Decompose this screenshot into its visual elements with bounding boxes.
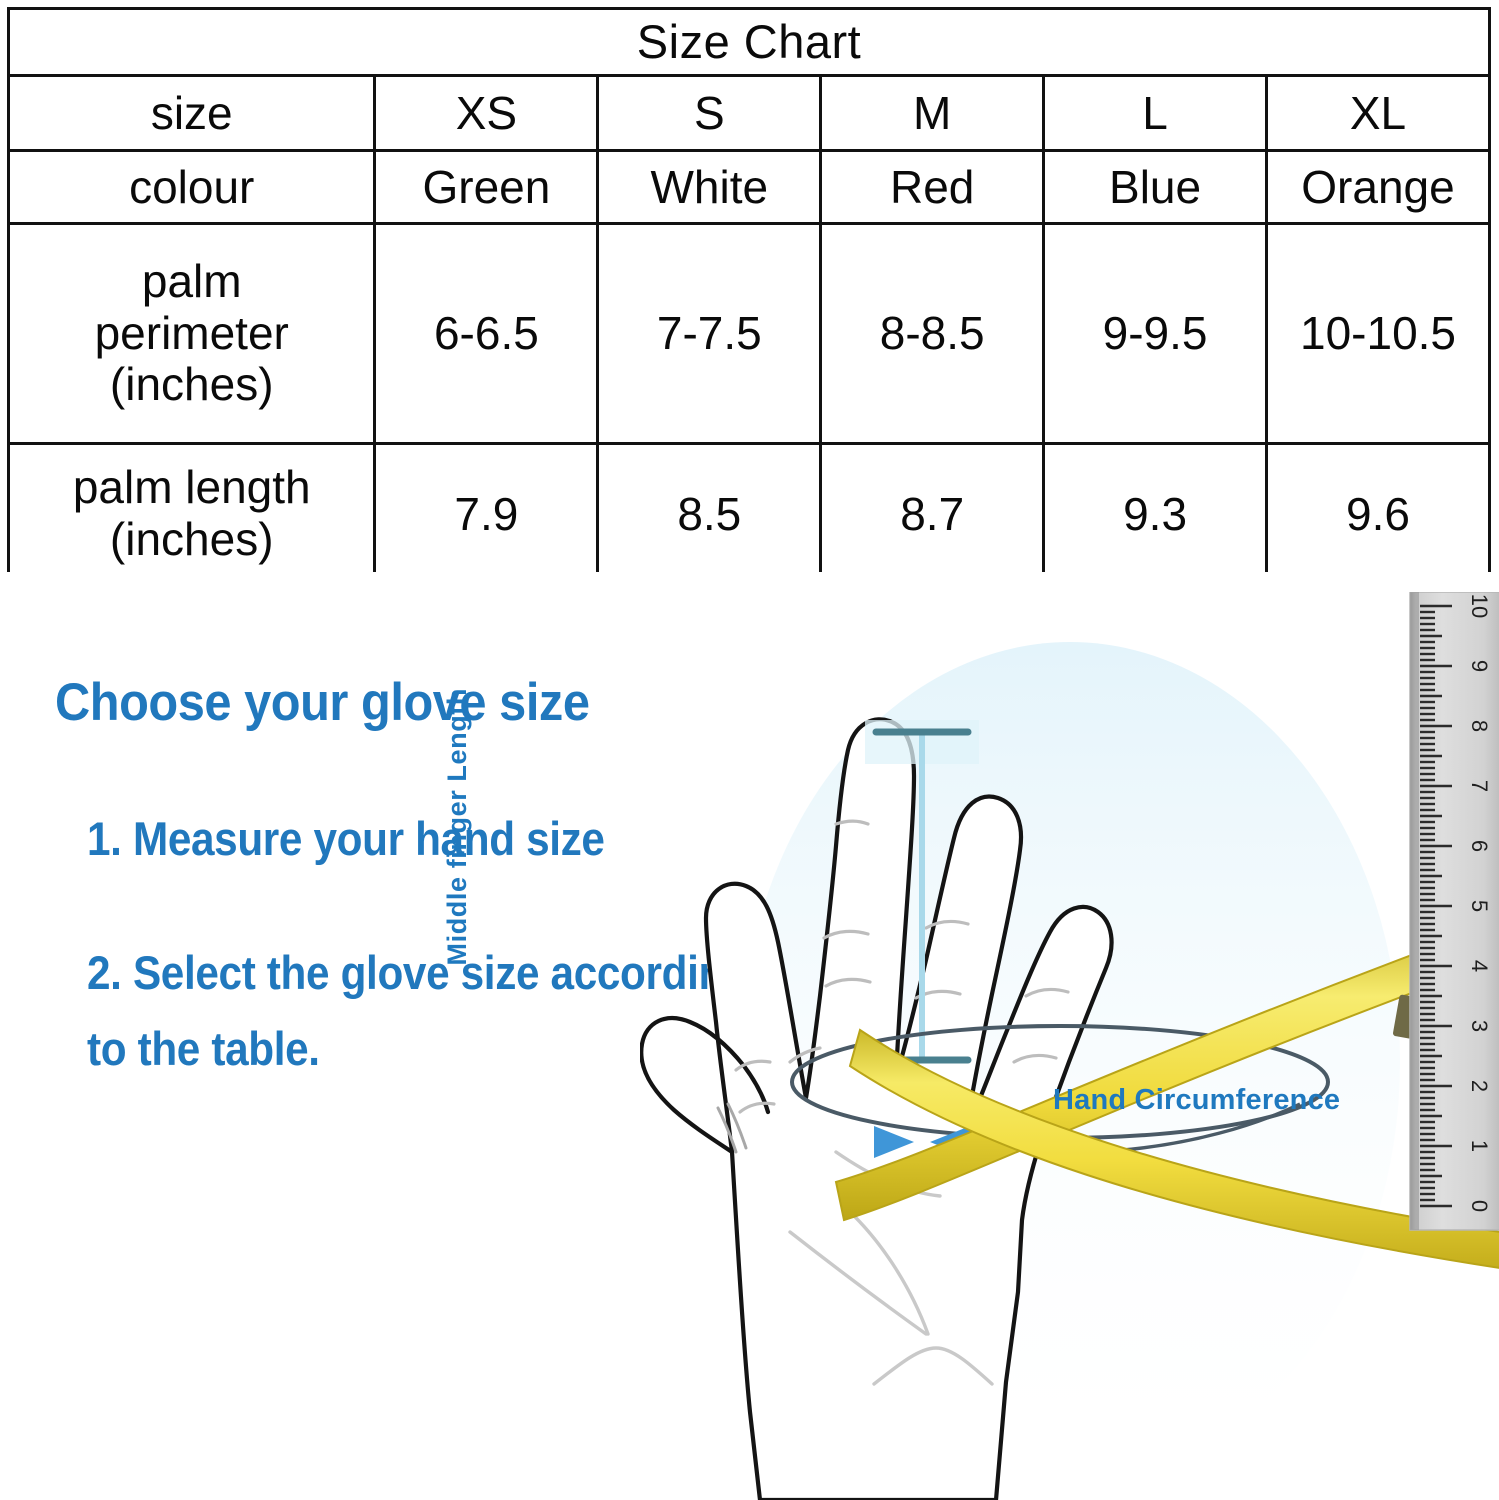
table-row-colour: colour Green White Red Blue Orange	[9, 151, 1490, 224]
svg-text:10: 10	[1467, 594, 1492, 618]
cell-colour-l: Blue	[1044, 151, 1267, 224]
svg-text:4: 4	[1467, 960, 1492, 972]
row-label-line-2: perimeter	[10, 308, 373, 360]
row-label-line-1: palm length	[10, 462, 373, 514]
svg-text:1: 1	[1467, 1140, 1492, 1152]
hand-circumference-label: Hand Circumference	[1053, 1084, 1340, 1117]
row-label-line-2: (inches)	[10, 514, 373, 566]
svg-text:0: 0	[1467, 1200, 1492, 1212]
row-label-palm-length: palm length (inches)	[9, 444, 375, 585]
cell-length-l: 9.3	[1044, 444, 1267, 585]
table-title-row: Size Chart	[9, 9, 1490, 76]
cell-size-xl: XL	[1267, 76, 1490, 151]
cell-size-l: L	[1044, 76, 1267, 151]
row-label-line-1: palm	[10, 256, 373, 308]
hand-measurement-illustration: 10 9 8 7 6 5 4 3 2 1 0	[640, 592, 1499, 1500]
svg-text:9: 9	[1467, 660, 1492, 672]
cell-colour-xs: Green	[375, 151, 598, 224]
cell-colour-s: White	[598, 151, 821, 224]
row-label-size: size	[9, 76, 375, 151]
cell-perimeter-m: 8-8.5	[821, 224, 1044, 444]
row-label-line-3: (inches)	[10, 359, 373, 411]
cell-length-s: 8.5	[598, 444, 821, 585]
ruler: 10 9 8 7 6 5 4 3 2 1 0	[1410, 592, 1499, 1230]
cell-size-xs: XS	[375, 76, 598, 151]
middle-finger-length-label: Middle finger Length	[442, 688, 473, 965]
svg-text:5: 5	[1467, 900, 1492, 912]
cell-perimeter-xs: 6-6.5	[375, 224, 598, 444]
svg-text:3: 3	[1467, 1020, 1492, 1032]
svg-text:7: 7	[1467, 780, 1492, 792]
svg-text:2: 2	[1467, 1080, 1492, 1092]
table-row-palm-length: palm length (inches) 7.9 8.5 8.7 9.3 9.6	[9, 444, 1490, 585]
cell-length-xl: 9.6	[1267, 444, 1490, 585]
row-label-palm-perimeter: palm perimeter (inches)	[9, 224, 375, 444]
svg-text:6: 6	[1467, 840, 1492, 852]
cell-size-m: M	[821, 76, 1044, 151]
cell-perimeter-xl: 10-10.5	[1267, 224, 1490, 444]
svg-text:8: 8	[1467, 720, 1492, 732]
cell-size-s: S	[598, 76, 821, 151]
table-row-size: size XS S M L XL	[9, 76, 1490, 151]
cell-colour-m: Red	[821, 151, 1044, 224]
glove-size-guide-panel: Choose your glove size 1. Measure your h…	[0, 572, 1499, 1500]
cell-perimeter-s: 7-7.5	[598, 224, 821, 444]
table-row-palm-perimeter: palm perimeter (inches) 6-6.5 7-7.5 8-8.…	[9, 224, 1490, 444]
cell-colour-xl: Orange	[1267, 151, 1490, 224]
cell-length-m: 8.7	[821, 444, 1044, 585]
row-label-colour: colour	[9, 151, 375, 224]
cell-perimeter-l: 9-9.5	[1044, 224, 1267, 444]
cell-length-xs: 7.9	[375, 444, 598, 585]
size-chart-table: Size Chart size XS S M L XL colour Green…	[7, 7, 1491, 586]
size-chart-title: Size Chart	[9, 9, 1490, 76]
